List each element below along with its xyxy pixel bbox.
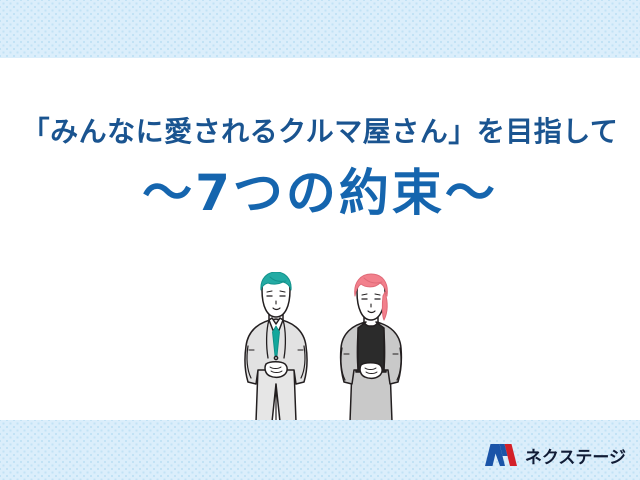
headline-block: 「みんなに愛されるクルマ屋さん」を目指して ～7つの約束～ [0, 118, 640, 218]
nextage-n-mark [484, 443, 518, 467]
male-staff-figure [245, 272, 307, 422]
headline-line-1: 「みんなに愛されるクルマ屋さん」を目指して [0, 118, 640, 146]
female-staff-figure [341, 274, 402, 422]
two-bowing-staff-illustration [236, 272, 426, 422]
top-dot-band [0, 0, 640, 58]
headline-line-2: ～7つの約束～ [0, 168, 640, 218]
brand-logo: ネクステージ [484, 440, 626, 470]
brand-wordmark: ネクステージ [525, 443, 626, 468]
slide-canvas: 「みんなに愛されるクルマ屋さん」を目指して ～7つの約束～ [0, 0, 640, 480]
